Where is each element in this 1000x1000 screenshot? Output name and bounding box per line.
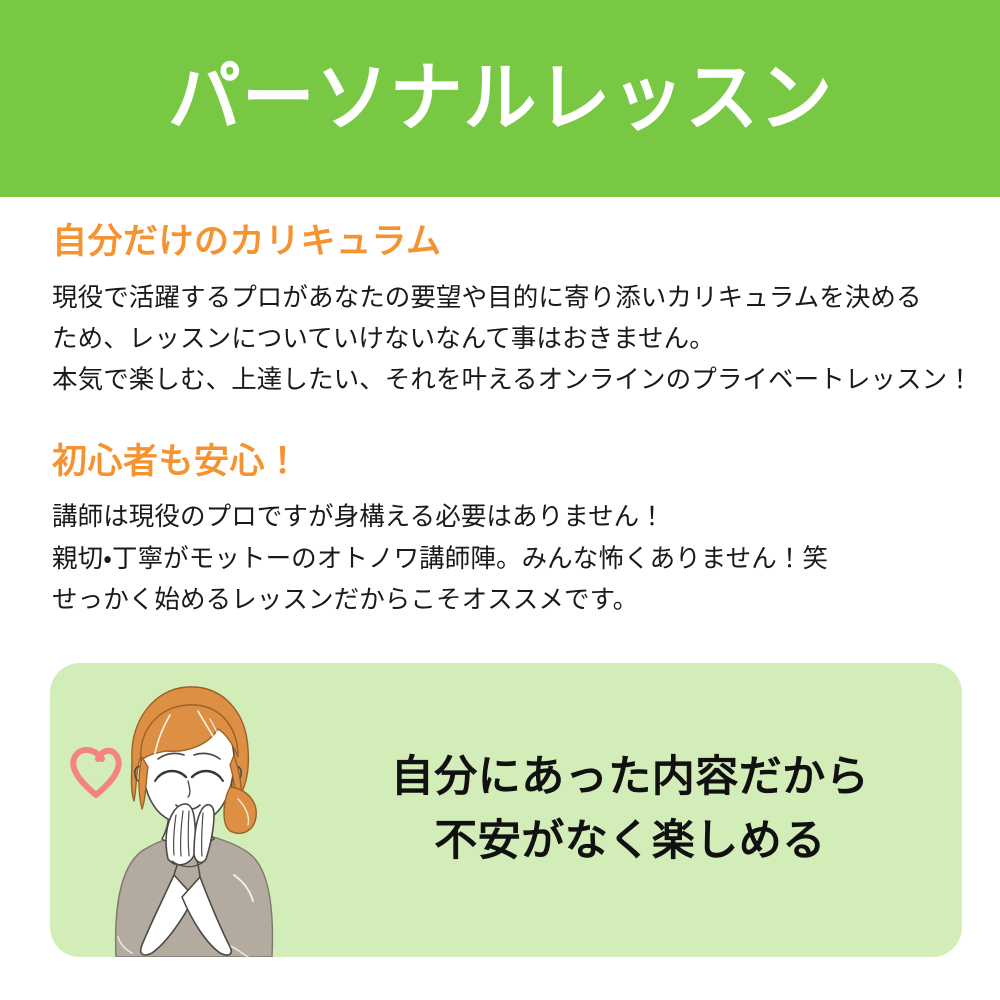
section-beginner: 初心者も安心！ 講師は現役のプロですが身構える必要はありません！ 親切・丁寧がモ… (52, 440, 962, 622)
smiling-woman-hands-clasped-illustration (58, 663, 348, 957)
section-curriculum: 自分だけのカリキュラム 現役で活躍するプロがあなたの要望や目的に寄り添いカリキュ… (52, 220, 962, 402)
section-heading-curriculum: 自分だけのカリキュラム (52, 220, 962, 264)
promo-line: 不安がなく楽しめる (434, 814, 826, 870)
section-body-curriculum: 現役で活躍するプロがあなたの要望や目的に寄り添いカリキュラムを決める ため、レッ… (52, 278, 962, 402)
promo-card: 自分にあった内容だから 不安がなく楽しめる (50, 663, 962, 957)
body-line: せっかく始めるレッスンだからこそオススメです。 (52, 580, 962, 621)
body-line: 親切・丁寧がモットーのオトノワ講師陣。みんな怖くありません！笑 (52, 539, 962, 580)
heart-icon (73, 750, 118, 795)
content-area: 自分だけのカリキュラム 現役で活躍するプロがあなたの要望や目的に寄り添いカリキュ… (52, 220, 962, 621)
body-line: 講師は現役のプロですが身構える必要はありません！ (52, 497, 962, 538)
body-line: 現役で活躍するプロがあなたの要望や目的に寄り添いカリキュラムを決める (52, 278, 962, 319)
body-line: 本気で楽しむ、上達したい、それを叶えるオンラインのプライベートレッスン！ (52, 360, 962, 401)
promo-card-text: 自分にあった内容だから 不安がなく楽しめる (350, 663, 910, 957)
header-banner: パーソナルレッスン (0, 0, 1000, 197)
section-heading-beginner: 初心者も安心！ (52, 440, 962, 484)
page-title: パーソナルレッスン (167, 61, 832, 137)
promo-line: 自分にあった内容だから (391, 750, 870, 806)
section-body-beginner: 講師は現役のプロですが身構える必要はありません！ 親切・丁寧がモットーのオトノワ… (52, 497, 962, 621)
body-line: ため、レッスンについていけないなんて事はおきません。 (52, 319, 962, 360)
